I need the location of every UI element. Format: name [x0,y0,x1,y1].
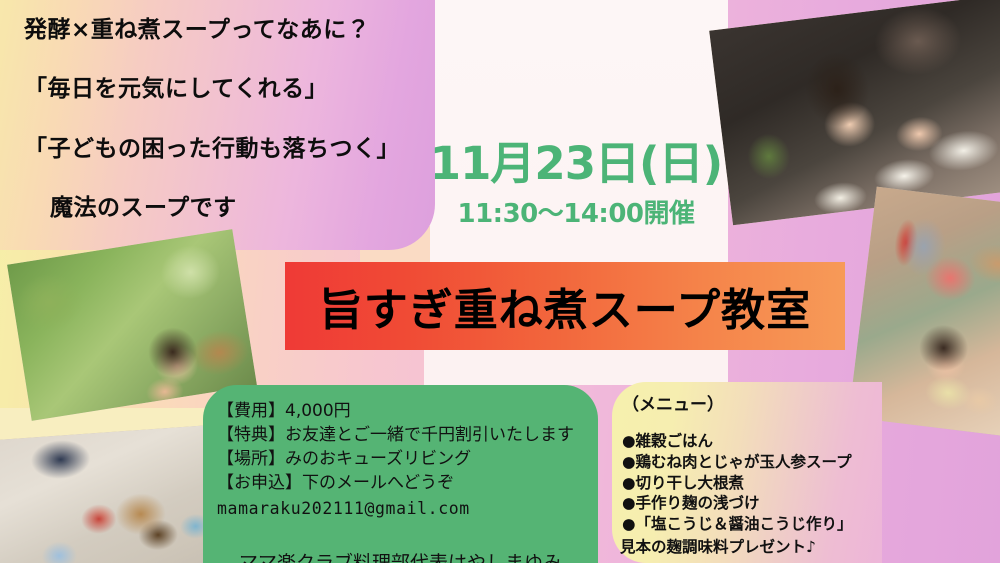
menu-item: ●切り干し大根煮 [622,473,882,494]
event-time: 11:30〜14:00開催 [424,193,728,230]
lead-copy-block: 発酵×重ね煮スープってなあに？ 「毎日を元気にしてくれる」 「子どもの困った行動… [24,18,444,221]
detail-fee: 【費用】4,000円 [217,399,598,423]
organizer-signature: ママ楽クラブ料理部代表はやしまゆみ [239,548,598,563]
contact-email[interactable]: mamaraku202111@gmail.com [217,496,598,522]
menu-panel: （メニュー） ●雑穀ごはん ●鶏むね肉とじゃが玉人参スープ ●切り干し大根煮 ●… [612,382,882,563]
lead-line-2: 「毎日を元気にしてくれる」 [24,77,444,102]
event-title: 旨すぎ重ね煮スープ教室 [319,274,811,338]
detail-application: 【お申込】下のメールへどうぞ [217,471,598,495]
event-details-box: 【費用】4,000円 【特典】お友達とご一緒で千円割引いたします 【場所】みのお… [203,385,598,563]
menu-item: ●雑穀ごはん [622,431,882,452]
event-flyer: 発酵×重ね煮スープってなあに？ 「毎日を元気にしてくれる」 「子どもの困った行動… [0,0,1000,563]
event-date: 11月23日(日) [424,140,728,187]
lead-line-4: 魔法のスープです [50,196,444,221]
menu-title: （メニュー） [622,390,882,415]
menu-item: ●手作り麹の浅づけ [622,493,882,514]
lead-line-1: 発酵×重ね煮スープってなあに？ [24,18,444,43]
event-title-banner: 旨すぎ重ね煮スープ教室 [285,262,845,350]
lead-line-3: 「子どもの困った行動も落ちつく」 [24,137,444,162]
menu-item: ●鶏むね肉とじゃが玉人参スープ [622,452,882,473]
event-date-block: 11月23日(日) 11:30〜14:00開催 [424,140,728,230]
mother-feeding-boy-photo-image [709,0,1000,225]
menu-note: 見本の麹調味料プレゼント♪ [620,535,882,557]
menu-item: ●「塩こうじ＆醤油こうじ作り」 [622,514,882,535]
menu-list: ●雑穀ごはん ●鶏むね肉とじゃが玉人参スープ ●切り干し大根煮 ●手作り麹の浅づ… [622,431,882,535]
mother-feeding-boy-photo [709,0,1000,225]
detail-bonus: 【特典】お友達とご一緒で千円割引いたします [217,423,598,447]
detail-venue: 【場所】みのおキューズリビング [217,447,598,471]
